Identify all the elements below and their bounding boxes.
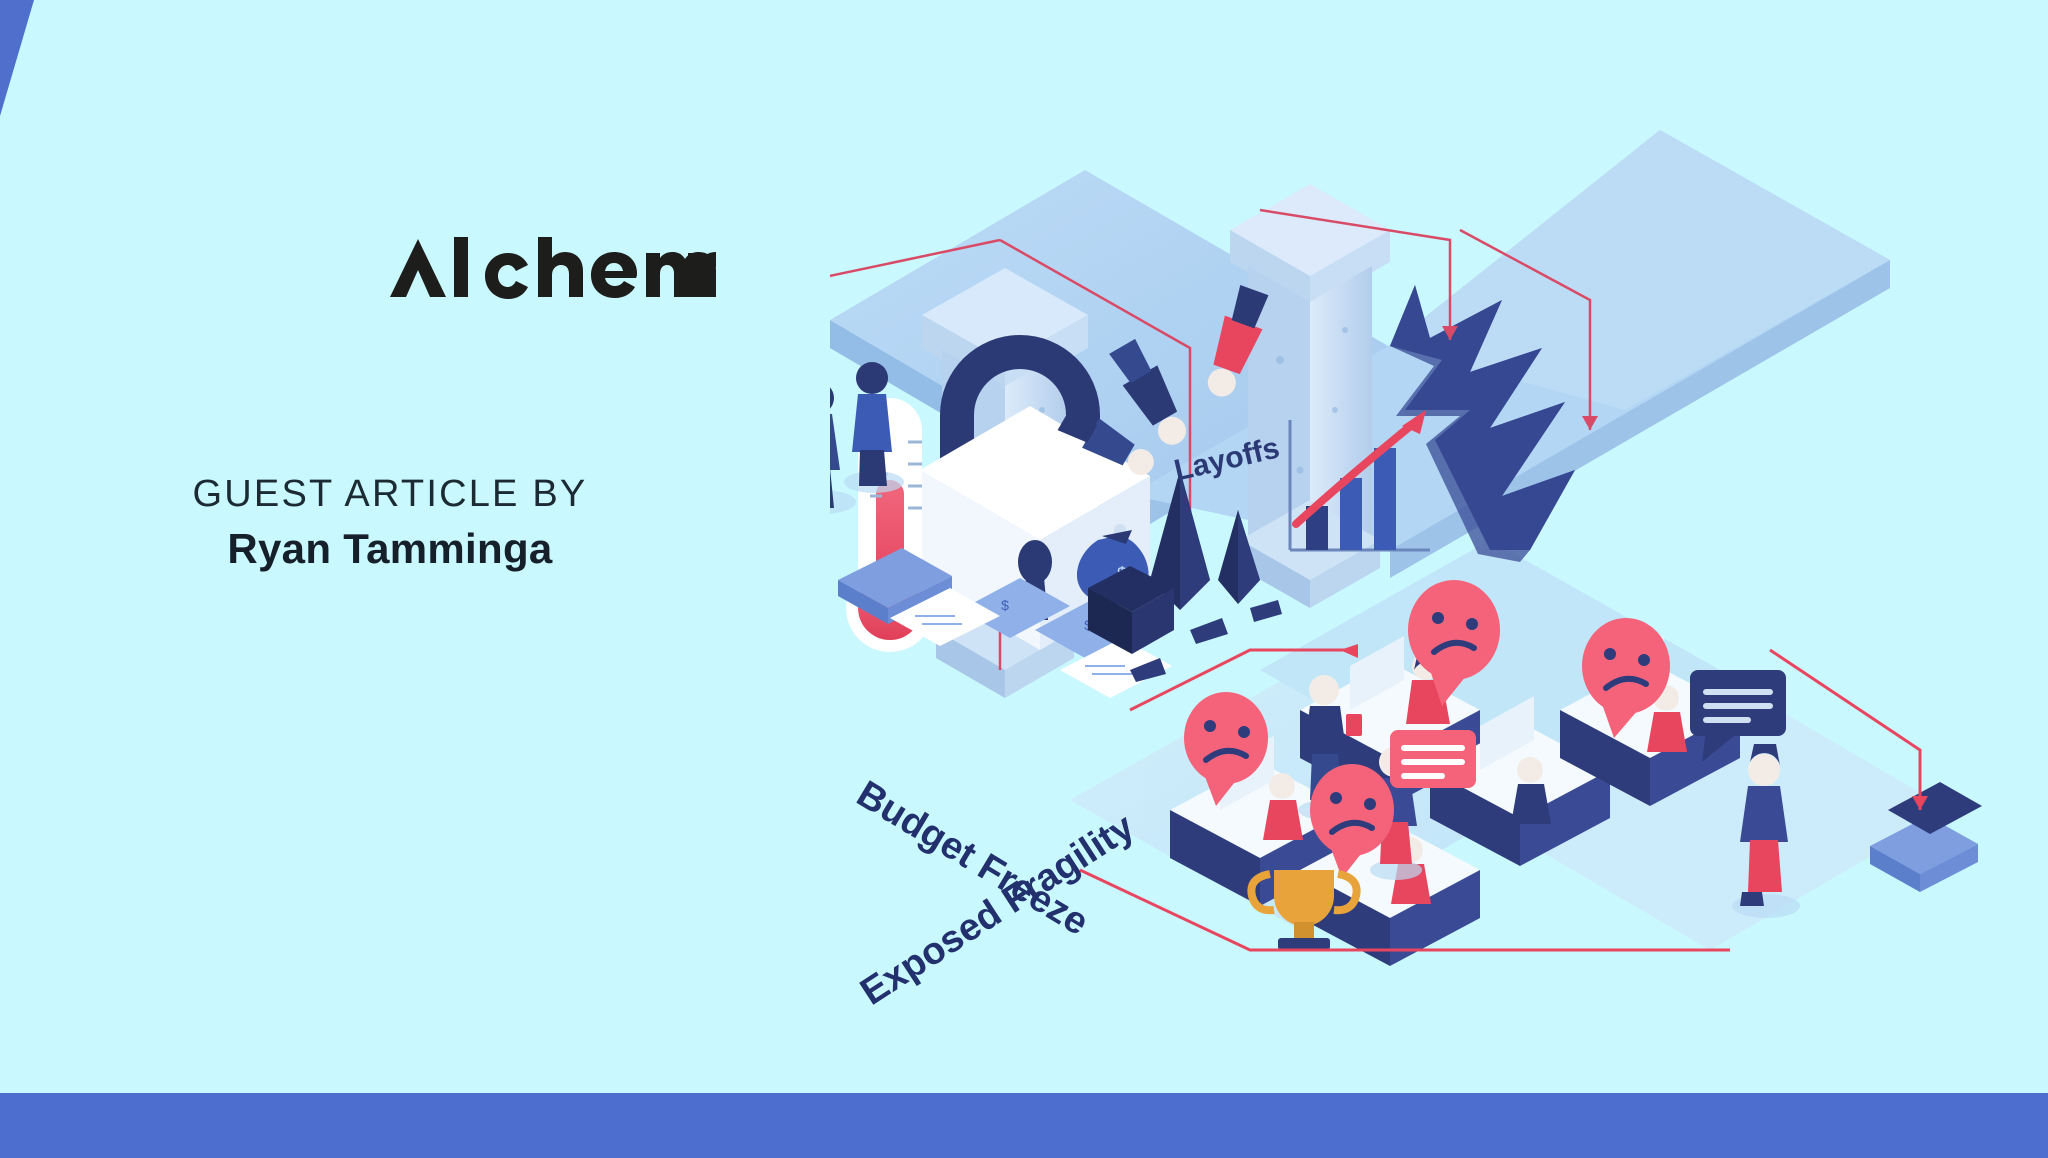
banner: GUEST ARTICLE BY Ryan Tamminga (0, 0, 2048, 1158)
author-name: Ryan Tamminga (0, 525, 780, 573)
guest-article-kicker: GUEST ARTICLE BY (0, 473, 780, 516)
svg-text:$: $ (1001, 597, 1009, 613)
footer-bar (0, 1093, 2048, 1158)
left-text-column: GUEST ARTICLE BY Ryan Tamminga (0, 0, 780, 1093)
alchemer-logo (388, 237, 718, 299)
isometric-illustration: $ $ $ (830, 110, 2020, 980)
